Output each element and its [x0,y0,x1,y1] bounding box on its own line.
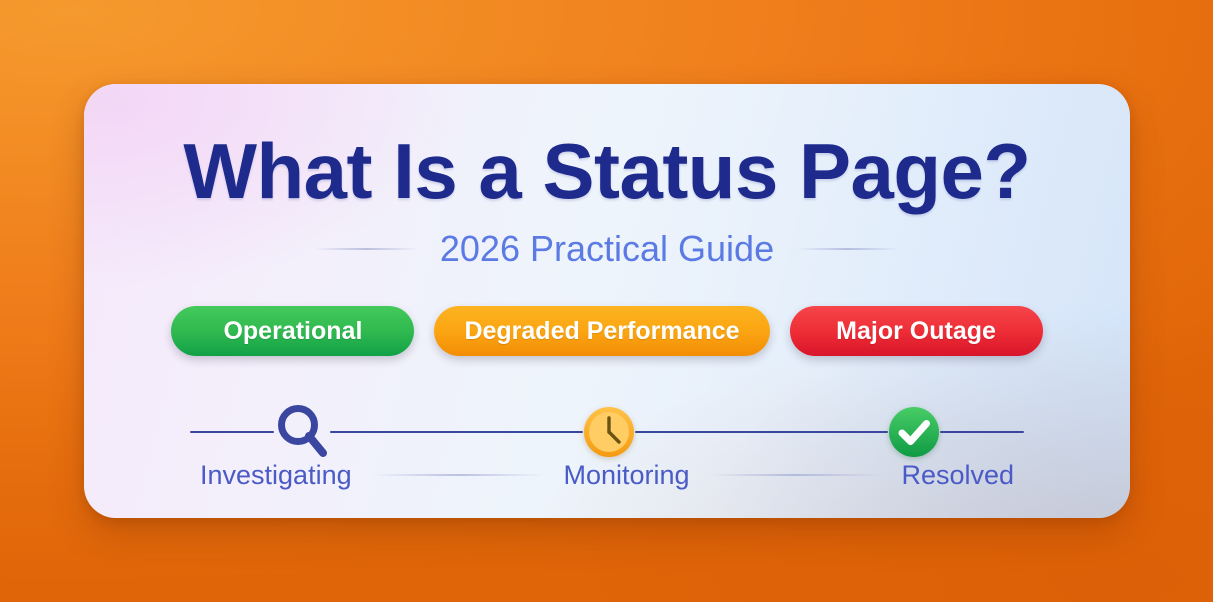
status-pill-degraded-performance[interactable]: Degraded Performance [434,306,769,356]
magnifying-glass-icon [274,401,330,463]
poster-canvas: What Is a Status Page? 2026 Practical Gu… [0,0,1213,602]
status-page-card: What Is a Status Page? 2026 Practical Gu… [84,84,1130,518]
incident-timeline: Investigating Monitoring Resolved [190,384,1024,494]
check-circle-icon [888,406,940,458]
timeline-segment-end [940,431,1024,433]
status-pill-group: Operational Degraded Performance Major O… [84,306,1130,356]
timeline-segment-1 [330,431,583,433]
timeline-label-monitoring: Monitoring [564,462,690,489]
label-rule-1 [372,474,544,476]
timeline-node-monitoring[interactable] [583,406,635,458]
subtitle-rule-left [314,248,418,250]
label-rule-2 [710,474,882,476]
page-subtitle: 2026 Practical Guide [440,231,774,267]
timeline-labels: Investigating Monitoring Resolved [190,458,1024,492]
card-content: What Is a Status Page? 2026 Practical Gu… [84,84,1130,518]
status-pill-major-outage[interactable]: Major Outage [790,306,1043,356]
page-title: What Is a Status Page? [84,132,1130,210]
clock-icon [583,406,635,458]
timeline-segment-start [190,431,274,433]
timeline-label-resolved: Resolved [901,462,1014,489]
timeline-node-resolved[interactable] [888,406,940,458]
subtitle-row: 2026 Practical Guide [84,231,1130,267]
timeline-label-investigating: Investigating [200,462,352,489]
status-pill-operational[interactable]: Operational [171,306,414,356]
subtitle-rule-right [796,248,900,250]
timeline-track [190,400,1024,464]
timeline-segment-2 [635,431,888,433]
timeline-node-investigating[interactable] [274,401,330,463]
